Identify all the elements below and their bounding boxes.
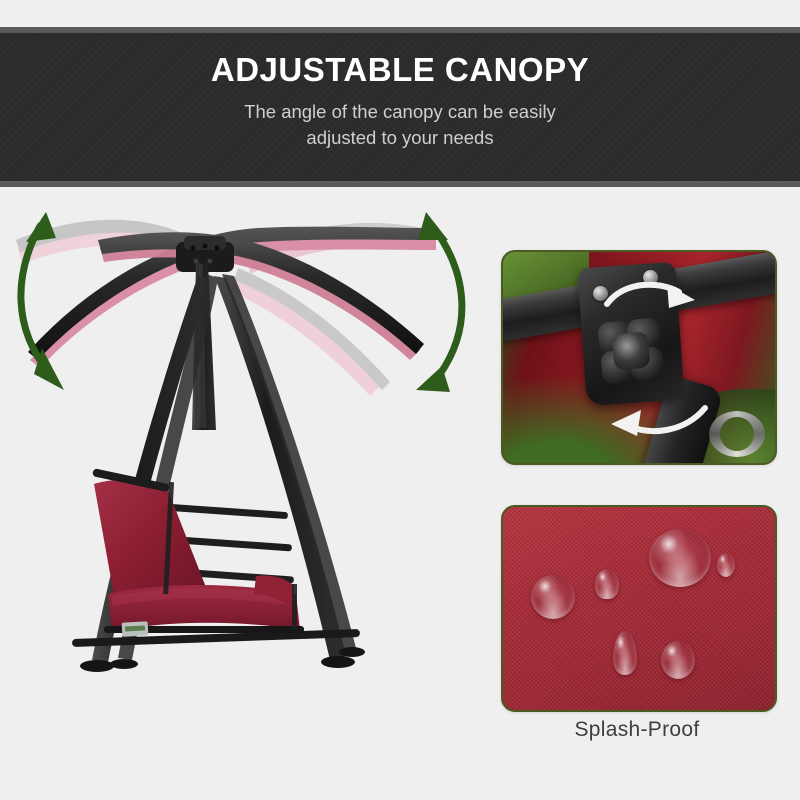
water-droplet: [661, 641, 695, 679]
water-droplet: [595, 569, 619, 599]
rotate-canopy-arrow-left: [8, 196, 118, 396]
page-subtitle-line2: adjusted to your needs: [0, 125, 800, 151]
rotate-canopy-arrow-right: [406, 196, 516, 396]
rotation-arrow-clockwise-icon: [599, 274, 709, 326]
splash-proof-caption: Splash-Proof: [501, 718, 773, 742]
canopy-angle-bracket-closeup: [501, 250, 777, 465]
water-droplet: [531, 575, 575, 619]
brand-tag: [122, 621, 149, 636]
header-banner: ADJUSTABLE CANOPY The angle of the canop…: [0, 27, 800, 187]
infographic-canvas: ADJUSTABLE CANOPY The angle of the canop…: [0, 0, 800, 800]
page-subtitle-line1: The angle of the canopy can be easily: [0, 99, 800, 125]
swing-seat: [92, 468, 304, 633]
metal-ring: [709, 411, 765, 457]
star-knob: [597, 317, 665, 385]
banner-bottom-edge: [0, 181, 800, 187]
water-droplet: [649, 529, 711, 587]
rotation-arrow-counterclockwise-icon: [605, 398, 715, 448]
water-droplet: [717, 553, 735, 577]
splash-proof-fabric-closeup: [501, 505, 777, 712]
page-subtitle: The angle of the canopy can be easily ad…: [0, 99, 800, 152]
page-title: ADJUSTABLE CANOPY: [0, 53, 800, 88]
